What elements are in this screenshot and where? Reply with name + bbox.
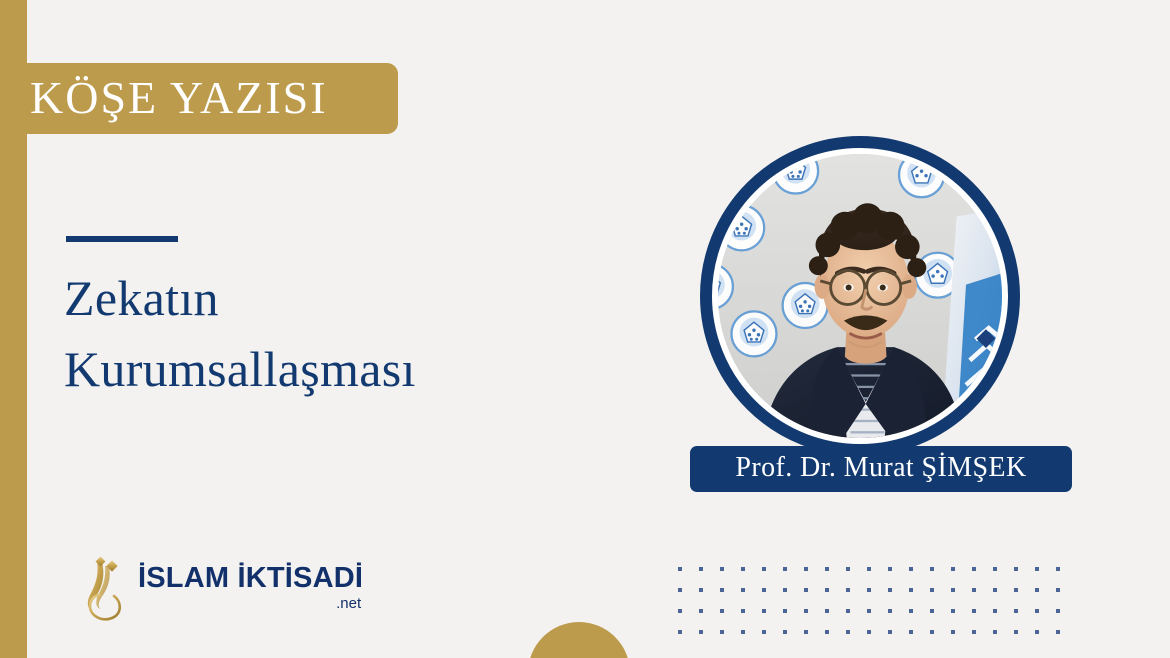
site-logo-tld: .net — [336, 596, 361, 611]
author-portrait-frame — [700, 136, 1020, 456]
page-title-line-2: Kurumsallaşması — [64, 334, 624, 405]
author-name-badge: Prof. Dr. Murat ŞİMŞEK — [690, 446, 1072, 492]
headline-rule — [66, 236, 178, 242]
dot-grid-row — [678, 567, 1077, 588]
site-logo-text: İSLAM İKTİSADİ .net — [138, 556, 363, 593]
gold-semicircle-decoration — [528, 622, 630, 658]
author-portrait-photo — [718, 154, 1002, 438]
author-name-label: Prof. Dr. Murat ŞİMŞEK — [735, 454, 1026, 482]
vav-calligraphy-icon — [78, 556, 132, 622]
site-logo-name: İSLAM İKTİSADİ — [138, 564, 363, 593]
dot-grid-row — [678, 609, 1077, 630]
dot-grid-row — [678, 588, 1077, 609]
author-portrait-clip — [718, 154, 1002, 438]
dot-grid-row — [678, 630, 1077, 651]
site-logo[interactable]: İSLAM İKTİSADİ .net — [78, 556, 363, 622]
kicker-label: KÖŞE YAZISI — [0, 75, 328, 121]
dot-grid-decoration — [678, 567, 1077, 651]
page-title: Zekatın Kurumsallaşması — [64, 263, 624, 405]
kicker-banner: KÖŞE YAZISI — [0, 63, 398, 134]
kose-yazisi-card: KÖŞE YAZISI Zekatın Kurumsallaşması — [0, 0, 1170, 658]
page-title-line-1: Zekatın — [64, 263, 624, 334]
